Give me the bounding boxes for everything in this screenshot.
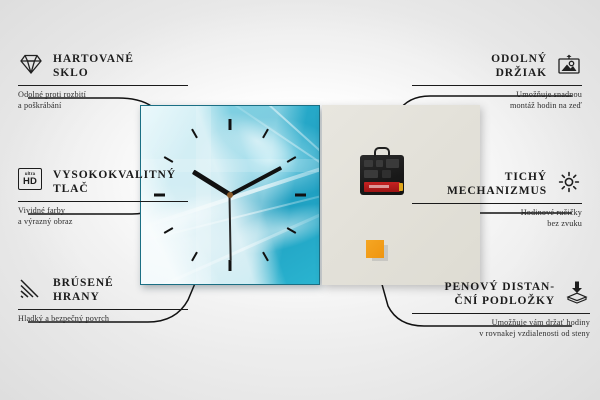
diamond-icon: [18, 52, 44, 76]
feature-description: Vividné farby a výrazný obraz: [18, 206, 188, 227]
feature-beveled-edges: BRÚSENÉ HRANY Hladký a bezpečný povrch: [18, 276, 188, 325]
beveled-edges-icon: [18, 276, 44, 300]
infographic-canvas: HARTOVANÉ SKLO Odolné proti rozbití a po…: [0, 0, 600, 400]
feature-title: VYSOKOKVALITNÝ TLAČ: [53, 168, 176, 196]
feature-description: Umožňuje snadnou montáž hodin na zeď: [412, 90, 582, 111]
divider: [412, 203, 582, 204]
clock-mechanism: [360, 155, 404, 195]
feature-tempered-glass: HARTOVANÉ SKLO Odolné proti rozbití a po…: [18, 52, 188, 111]
divider: [412, 313, 590, 314]
feature-description: Umožňuje vám držať hodiny v rovnakej vzd…: [412, 318, 590, 339]
feature-title: BRÚSENÉ HRANY: [53, 276, 114, 304]
divider: [18, 201, 188, 202]
feature-title: TICHÝ MECHANIZMUS: [447, 170, 547, 198]
battery: [364, 182, 400, 192]
feature-title: PENOVÝ DISTAN- ČNÍ PODLOŽKY: [445, 280, 555, 308]
mechanism-hook: [374, 147, 390, 157]
clock-center-cap: [227, 192, 233, 198]
feature-title: HARTOVANÉ SKLO: [53, 52, 134, 80]
feature-description: Hodinové ručičky bez zvuku: [412, 208, 582, 229]
foam-spacer-icon: [564, 280, 590, 304]
divider: [18, 309, 188, 310]
divider: [412, 85, 582, 86]
feature-silent-mechanism: TICHÝ MECHANIZMUS Hodinové ručičky bez z…: [412, 170, 582, 229]
foam-spacer-pad: [366, 240, 384, 258]
feature-foam-spacers: PENOVÝ DISTAN- ČNÍ PODLOŽKY Umožňuje vám…: [412, 280, 590, 339]
divider: [18, 85, 188, 86]
ultra-hd-icon-main-text: HD: [23, 177, 37, 187]
feature-description: Odolné proti rozbití a poškrábání: [18, 90, 188, 111]
feature-title: ODOLNÝ DRŽIAK: [491, 52, 547, 80]
feature-description: Hladký a bezpečný povrch: [18, 314, 188, 325]
feature-hd-print: ultra HD VYSOKOKVALITNÝ TLAČ Vividné far…: [18, 168, 188, 227]
feature-durable-holder: ODOLNÝ DRŽIAK Umožňuje snadnou montáž ho…: [412, 52, 582, 111]
ultra-hd-icon: ultra HD: [18, 168, 44, 192]
gear-icon: [556, 170, 582, 194]
picture-hanger-icon: [556, 52, 582, 76]
